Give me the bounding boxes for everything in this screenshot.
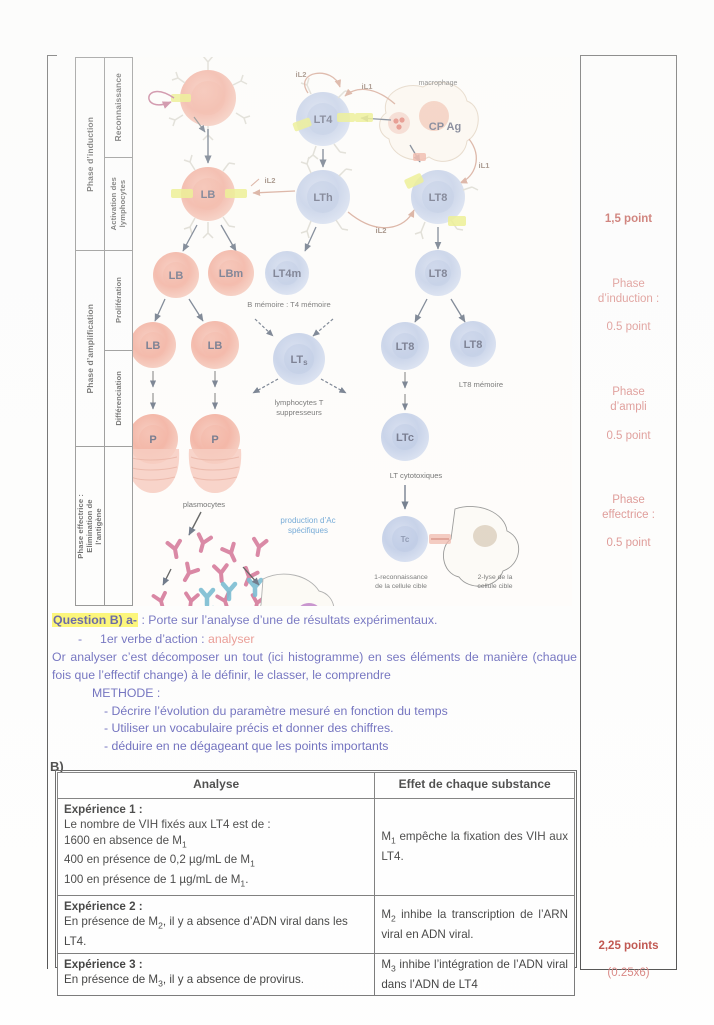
phase-label-columns: Phase d’induction Phase d’amplification … — [75, 57, 133, 606]
points-note-3: 0.5 point — [580, 320, 677, 335]
phase-label-column-outer: Phase d’induction Phase d’amplification … — [76, 58, 104, 605]
svg-text:LBm: LBm — [219, 268, 244, 280]
svg-text:LB: LB — [169, 270, 184, 282]
svg-text:lymphocytes T: lymphocytes T — [275, 398, 324, 407]
experience-2-line-1: En présence de M2, il y a absence d’ADN … — [64, 915, 348, 948]
points-note-4: Phase — [580, 385, 677, 400]
points-note-11: (0.25x6) — [580, 966, 677, 981]
sublabel-activation-text: Activation des lymphocytes — [109, 177, 127, 230]
svg-text:cellule cible: cellule cible — [477, 583, 512, 590]
svg-text:suppresseurs: suppresseurs — [276, 408, 322, 417]
svg-text:CP Ag: CP Ag — [429, 121, 461, 133]
experience-2-title: Expérience 2 : — [64, 899, 368, 915]
svg-text:spécifiques: spécifiques — [288, 526, 328, 535]
svg-text:LB: LB — [201, 189, 216, 201]
sublabel-differenciation-text: Différenciation — [114, 371, 123, 426]
svg-text:Tc: Tc — [401, 535, 410, 544]
svg-text:de la cellule cible: de la cellule cible — [375, 583, 427, 590]
points-note-9: 0.5 point — [580, 536, 677, 551]
table-header-row: Analyse Effet de chaque substance — [58, 773, 575, 799]
points-note-5: d’ampli — [580, 400, 677, 415]
svg-text:LT8: LT8 — [429, 268, 448, 280]
cell-analyse-2: Expérience 2 : En présence de M2, il y a… — [58, 895, 375, 953]
dash-bullet: - — [78, 631, 100, 649]
svg-text:LT8: LT8 — [429, 192, 448, 204]
question-paragraph: Or analyser c’est décomposer un tout (ic… — [52, 649, 577, 684]
svg-text:LTc: LTc — [396, 432, 414, 444]
phase-label-induction: Phase d’induction — [76, 58, 104, 251]
svg-text:P: P — [149, 434, 156, 446]
svg-text:LT4: LT4 — [314, 114, 334, 126]
cell-effet-3: M3 inhibe l’intégration de l’ADN viral d… — [375, 953, 575, 995]
sublabel-reconnaissance-text: Reconnaissance — [113, 73, 123, 142]
svg-text:LT8: LT8 — [396, 341, 415, 353]
table-row: Expérience 1 : Le nombre de VIH fixés au… — [58, 798, 575, 895]
svg-text:iL2: iL2 — [296, 70, 307, 79]
methode-bullet-1: - Décrire l’évolution du paramètre mesur… — [52, 703, 577, 721]
svg-text:LT4m: LT4m — [273, 268, 302, 280]
cell-analyse-3: Expérience 3 : En présence de M3, il y a… — [58, 953, 375, 995]
sublabel-reconnaissance: Reconnaissance — [105, 58, 132, 158]
points-note-6: 0.5 point — [580, 429, 677, 444]
svg-text:LTh: LTh — [313, 192, 333, 204]
points-note-7: Phase — [580, 493, 677, 508]
results-table: Analyse Effet de chaque substance Expéri… — [57, 772, 575, 996]
svg-text:P: P — [211, 434, 218, 446]
experience-3-title: Expérience 3 : — [64, 957, 368, 973]
left-rule-tick — [47, 55, 57, 56]
phase-label-amplification-text: Phase d’amplification — [85, 304, 95, 393]
exam-page: Phase d’induction Phase d’amplification … — [0, 0, 714, 1025]
table-row: Expérience 3 : En présence de M3, il y a… — [58, 953, 575, 995]
cell-analyse-1: Expérience 1 : Le nombre de VIH fixés au… — [58, 798, 375, 895]
phase-label-effectrice-text: Phase effectrice : Elimination de l’anti… — [76, 494, 103, 559]
experience-3-line-1: En présence de M3, il y a absence de pro… — [64, 973, 304, 986]
svg-text:LT8 mémoire: LT8 mémoire — [459, 380, 503, 389]
svg-text:1-reconnaissance: 1-reconnaissance — [374, 574, 428, 581]
points-note-2: d’induction : — [580, 292, 677, 307]
svg-text:iL1: iL1 — [362, 82, 374, 91]
verb-prefix: 1er verbe d’action : — [100, 632, 208, 646]
phase-label-effectrice: Phase effectrice : Elimination de l’anti… — [76, 447, 104, 605]
sublabel-activation: Activation des lymphocytes — [105, 158, 132, 251]
column-header-analyse: Analyse — [58, 773, 375, 799]
points-note-1: Phase — [580, 277, 677, 292]
svg-text:LT cytotoxiques: LT cytotoxiques — [390, 471, 443, 480]
svg-text:LB: LB — [146, 340, 161, 352]
experience-1-line-3: 400 en présence de 0,2 µg/mL de M1 — [64, 853, 255, 866]
svg-text:2-lyse de la: 2-lyse de la — [478, 574, 513, 581]
svg-text:LT8: LT8 — [464, 339, 483, 351]
svg-text:LB: LB — [208, 340, 223, 352]
svg-text:plasmocytes: plasmocytes — [183, 500, 225, 509]
column-header-effet: Effet de chaque substance — [375, 773, 575, 799]
phase-label-induction-text: Phase d’induction — [85, 117, 95, 192]
phase-label-column-inner: Reconnaissance Activation des lymphocyte… — [104, 58, 132, 605]
svg-text:B mémoire : T4 mémoire: B mémoire : T4 mémoire — [247, 300, 330, 309]
experience-1-title: Expérience 1 : — [64, 802, 368, 818]
phase-label-amplification: Phase d’amplification — [76, 251, 104, 447]
question-verb-line: -1er verbe d’action : analyser — [52, 631, 577, 649]
points-note-10: 2,25 points — [580, 939, 677, 954]
cell-effet-1: M1 empêche la fixation des VIH aux LT4. — [375, 798, 575, 895]
svg-text:production d’Ac: production d’Ac — [280, 516, 335, 525]
question-tag: Question B) a- — [52, 613, 138, 627]
left-margin-rule — [47, 56, 48, 969]
sublabel-proliferation-text: Prolifération — [114, 277, 123, 323]
question-tag-rest: : Porte sur l’analyse d’une de résultats… — [138, 613, 437, 627]
diagram-canvas: .cl { font-family:"Liberation Sans",sans… — [133, 57, 572, 606]
methode-label: METHODE : — [52, 685, 577, 703]
experience-1-line-1: Le nombre de VIH fixés aux LT4 est de : — [64, 818, 271, 831]
cell-effet-2: M2 inhibe la transcription de l’ARN vira… — [375, 895, 575, 953]
sublabel-differenciation: Différenciation — [105, 351, 132, 447]
sublabel-proliferation: Prolifération — [105, 251, 132, 351]
svg-text:iL2: iL2 — [265, 176, 276, 185]
methode-bullet-2: - Utiliser un vocabulaire précis et donn… — [52, 720, 577, 738]
verb-word: analyser — [208, 632, 254, 646]
experience-1-line-4: 100 en présence de 1 µg/mL de M1. — [64, 873, 248, 886]
immune-response-diagram: Phase d’induction Phase d’amplification … — [75, 57, 572, 607]
sublabel-empty — [105, 447, 132, 605]
experience-1-line-2: 1600 en absence de M1 — [64, 834, 187, 847]
points-note-0: 1,5 point — [580, 212, 677, 227]
question-heading: Question B) a- : Porte sur l’analyse d’u… — [52, 612, 577, 630]
svg-text:iL2: iL2 — [376, 226, 387, 235]
svg-text:iL1: iL1 — [479, 161, 491, 170]
table-row: Expérience 2 : En présence de M2, il y a… — [58, 895, 575, 953]
points-note-8: effectrice : — [580, 508, 677, 523]
methode-bullet-3: - déduire en ne dégageant que les points… — [52, 738, 577, 756]
svg-text:macrophage: macrophage — [419, 80, 458, 87]
question-block: Question B) a- : Porte sur l’analyse d’u… — [52, 612, 577, 755]
